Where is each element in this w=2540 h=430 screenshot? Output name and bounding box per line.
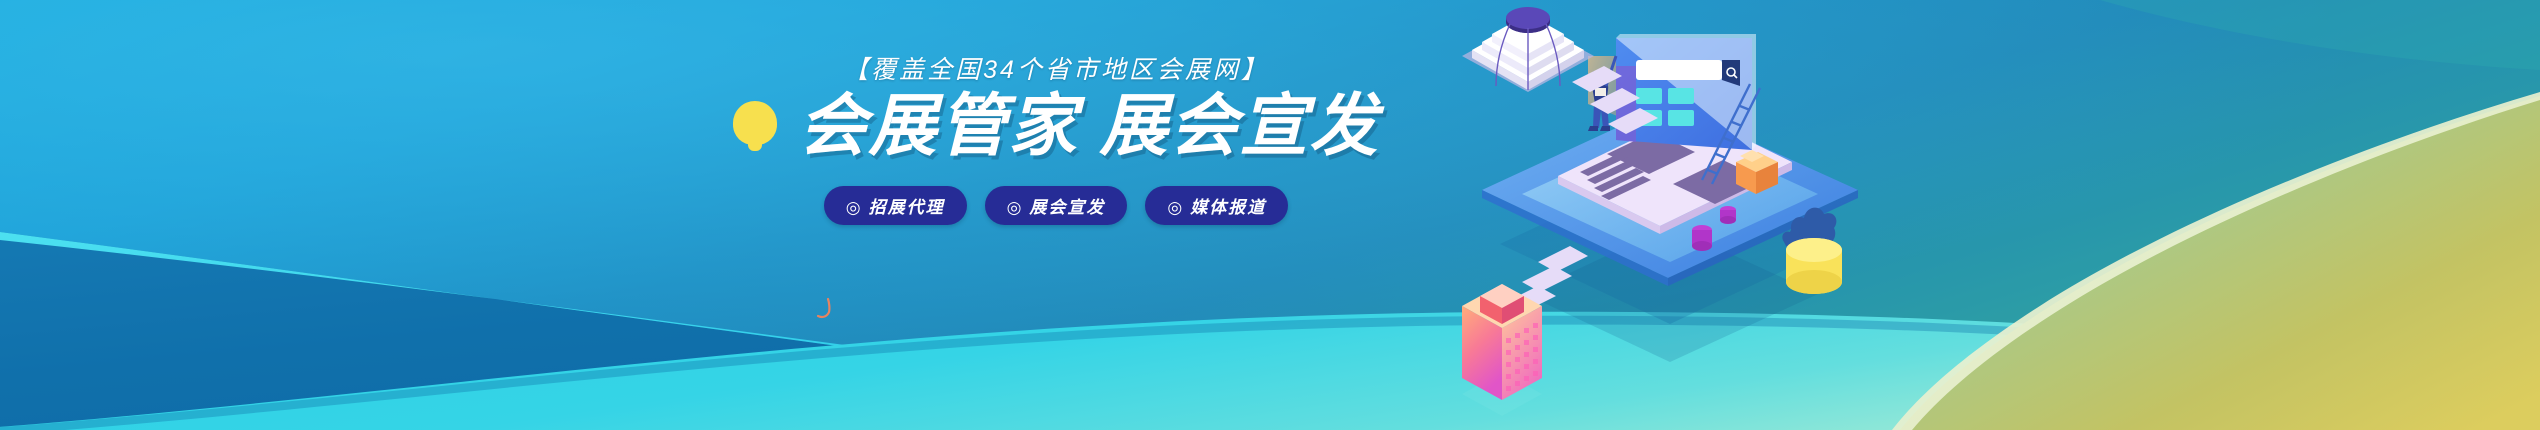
stacked-pyramid-icon <box>1462 7 1594 92</box>
ring-icon: ◎ <box>1167 198 1184 217</box>
promo-banner: 【覆盖全国34个省市地区会展网】 会展管家 展会宣发 ◎招展代理 ◎展会宣发 ◎… <box>0 0 2540 430</box>
feature-pill-list: ◎招展代理 ◎展会宣发 ◎媒体报道 <box>676 186 1436 225</box>
feature-pill-label: 招展代理 <box>869 198 945 217</box>
headline-row: 会展管家 展会宣发 <box>676 92 1436 160</box>
skyscraper-icon <box>1462 284 1542 416</box>
banner-text-block: 【覆盖全国34个省市地区会展网】 会展管家 展会宣发 ◎招展代理 ◎展会宣发 ◎… <box>676 50 1436 225</box>
ring-icon: ◎ <box>1007 198 1024 217</box>
scribble-mark-icon <box>814 296 840 322</box>
ring-icon: ◎ <box>846 198 863 217</box>
lightbulb-icon <box>733 101 777 153</box>
isometric-illustration <box>1440 0 1880 430</box>
feature-pill-label: 媒体报道 <box>1190 198 1266 217</box>
screen-icon <box>1616 34 1756 150</box>
feature-pill-label: 展会宣发 <box>1029 198 1105 217</box>
feature-pill-zhanhui-xuanfa[interactable]: ◎展会宣发 <box>985 186 1128 225</box>
feature-pill-zhanzhan-daili[interactable]: ◎招展代理 <box>824 186 967 225</box>
banner-tagline: 【覆盖全国34个省市地区会展网】 <box>676 50 1436 86</box>
banner-headline: 会展管家 展会宣发 <box>799 92 1380 160</box>
feature-pill-meiti-baodao[interactable]: ◎媒体报道 <box>1145 186 1288 225</box>
